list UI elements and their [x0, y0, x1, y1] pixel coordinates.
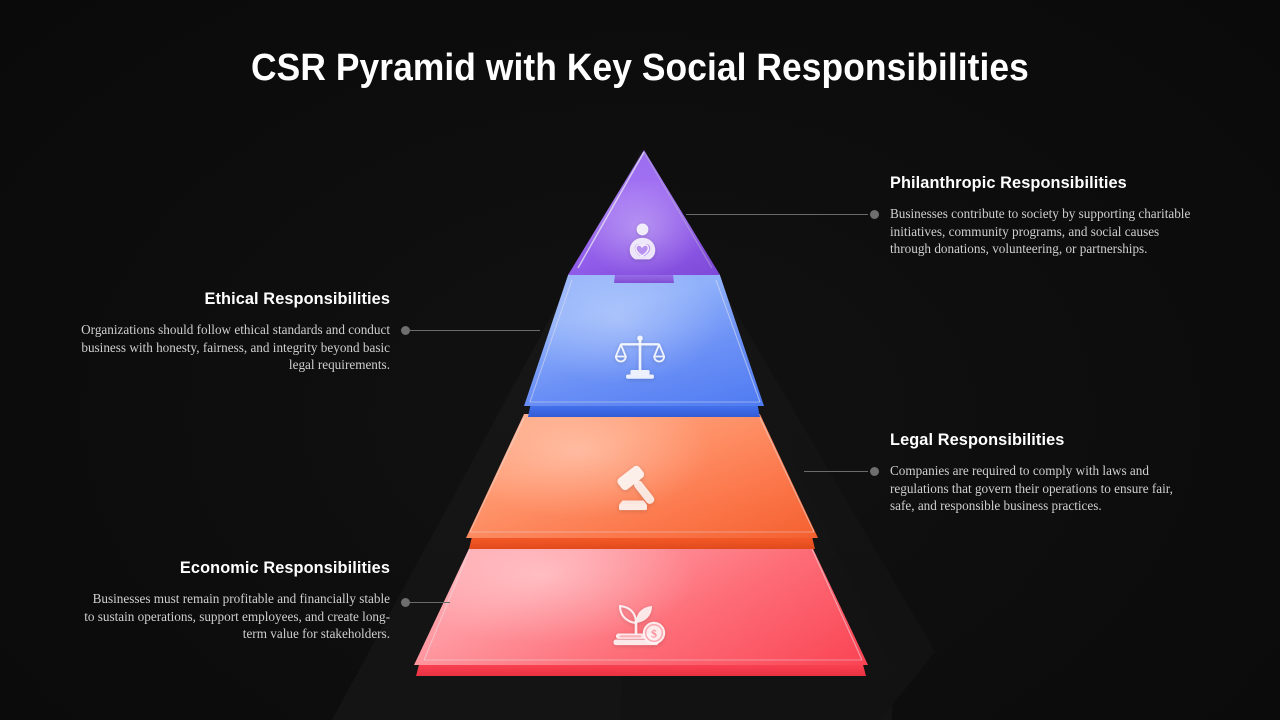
money-plant-growth-icon: $ [610, 597, 668, 649]
connector-dot-legal [870, 467, 879, 476]
body-ethical: Organizations should follow ethical stan… [80, 321, 390, 374]
svg-text:$: $ [651, 626, 657, 640]
connector-line-ethical [410, 330, 540, 331]
text-block-philanthropic: Philanthropic Responsibilities Businesse… [890, 173, 1200, 258]
connector-line-philanthropic [686, 214, 868, 215]
heading-legal: Legal Responsibilities [890, 430, 1188, 450]
text-block-legal: Legal Responsibilities Companies are req… [890, 430, 1200, 515]
person-holding-heart-icon [620, 220, 665, 266]
connector-dot-economic [401, 598, 410, 607]
body-legal: Companies are required to comply with la… [890, 462, 1200, 515]
text-block-ethical: Ethical Responsibilities Organizations s… [80, 289, 390, 374]
connector-line-legal [804, 471, 868, 472]
text-block-economic: Economic Responsibilities Businesses mus… [80, 558, 390, 643]
slide-canvas: CSR Pyramid with Key Social Responsibili… [0, 0, 1280, 720]
gavel-icon [613, 464, 667, 514]
body-philanthropic: Businesses contribute to society by supp… [890, 205, 1200, 258]
body-economic: Businesses must remain profitable and fi… [80, 590, 390, 643]
connector-line-economic [410, 602, 450, 603]
connector-dot-ethical [401, 326, 410, 335]
connector-dot-philanthropic [870, 210, 879, 219]
heading-philanthropic: Philanthropic Responsibilities [890, 173, 1188, 193]
heading-ethical: Ethical Responsibilities [92, 289, 390, 309]
heading-economic: Economic Responsibilities [92, 558, 390, 578]
balance-scale-icon [615, 333, 665, 381]
